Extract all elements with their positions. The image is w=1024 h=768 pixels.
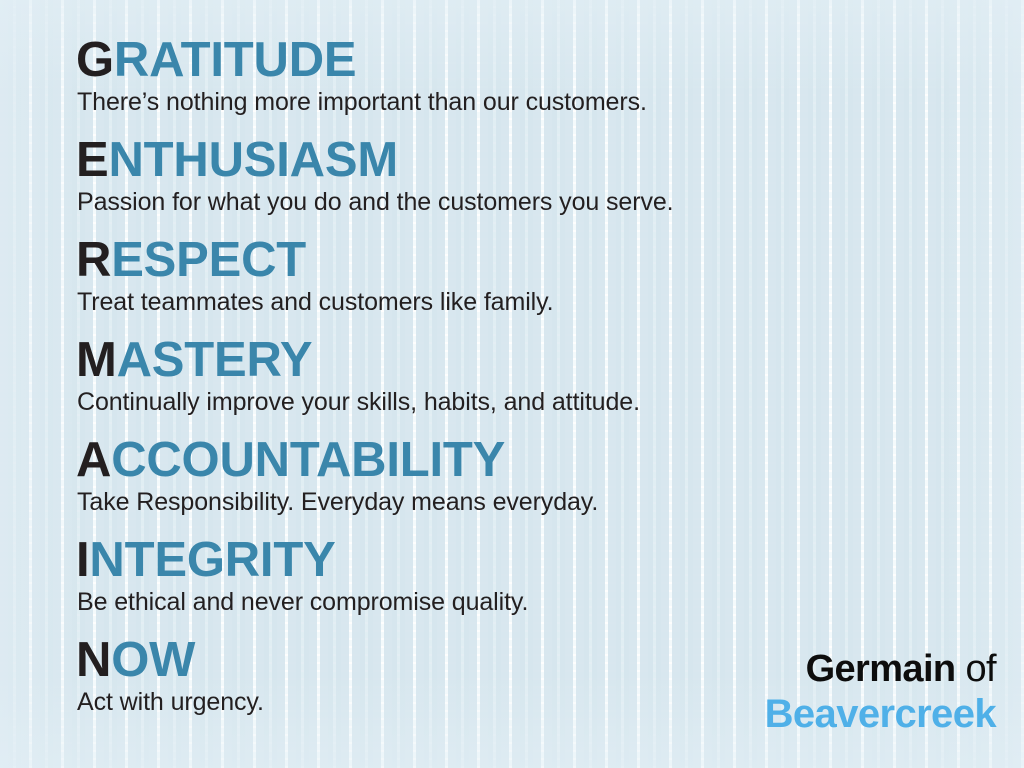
logo-location-name: Beavercreek bbox=[765, 692, 996, 736]
value-heading-rest: ESPECT bbox=[111, 233, 306, 287]
value-heading-rest: OW bbox=[111, 633, 195, 687]
value-heading: RESPECT bbox=[76, 234, 1006, 286]
value-heading: GRATITUDE bbox=[76, 34, 1006, 86]
value-item-mastery: MASTERY Continually improve your skills,… bbox=[76, 334, 1006, 434]
value-description: Be ethical and never compromise quality. bbox=[77, 587, 1006, 617]
value-description: Treat teammates and customers like famil… bbox=[77, 287, 1006, 317]
value-heading-initial: E bbox=[76, 133, 108, 187]
value-heading: MASTERY bbox=[76, 334, 1006, 386]
value-heading-rest: NTEGRITY bbox=[89, 533, 335, 587]
value-heading: ENTHUSIASM bbox=[76, 134, 1006, 186]
value-heading: ACCOUNTABILITY bbox=[76, 434, 1006, 486]
logo-brand-name: Germain bbox=[806, 648, 956, 690]
values-poster: GRATITUDE There’s nothing more important… bbox=[0, 0, 1024, 768]
value-item-respect: RESPECT Treat teammates and customers li… bbox=[76, 234, 1006, 334]
value-heading-initial: G bbox=[76, 33, 114, 87]
value-heading-rest: CCOUNTABILITY bbox=[111, 433, 505, 487]
value-description: Take Responsibility. Everyday means ever… bbox=[77, 487, 1006, 517]
value-item-enthusiasm: ENTHUSIASM Passion for what you do and t… bbox=[76, 134, 1006, 234]
value-item-gratitude: GRATITUDE There’s nothing more important… bbox=[76, 34, 1006, 134]
value-description: Continually improve your skills, habits,… bbox=[77, 387, 1006, 417]
value-item-accountability: ACCOUNTABILITY Take Responsibility. Ever… bbox=[76, 434, 1006, 534]
value-heading-rest: RATITUDE bbox=[114, 33, 356, 87]
logo-connector-word: of bbox=[956, 648, 996, 690]
value-heading-rest: ASTERY bbox=[117, 333, 313, 387]
value-item-integrity: INTEGRITY Be ethical and never compromis… bbox=[76, 534, 1006, 634]
value-heading-initial: A bbox=[76, 433, 111, 487]
dealership-logo: Germain of Beavercreek bbox=[765, 648, 996, 736]
logo-primary-line: Germain of bbox=[765, 648, 996, 690]
core-values-list: GRATITUDE There’s nothing more important… bbox=[76, 34, 1006, 734]
value-description: There’s nothing more important than our … bbox=[77, 87, 1006, 117]
value-heading: INTEGRITY bbox=[76, 534, 1006, 586]
value-heading-initial: M bbox=[76, 333, 117, 387]
value-heading-initial: N bbox=[76, 633, 111, 687]
value-heading-initial: I bbox=[76, 533, 89, 587]
value-heading-rest: NTHUSIASM bbox=[108, 133, 397, 187]
value-heading-initial: R bbox=[76, 233, 111, 287]
value-description: Passion for what you do and the customer… bbox=[77, 187, 1006, 217]
